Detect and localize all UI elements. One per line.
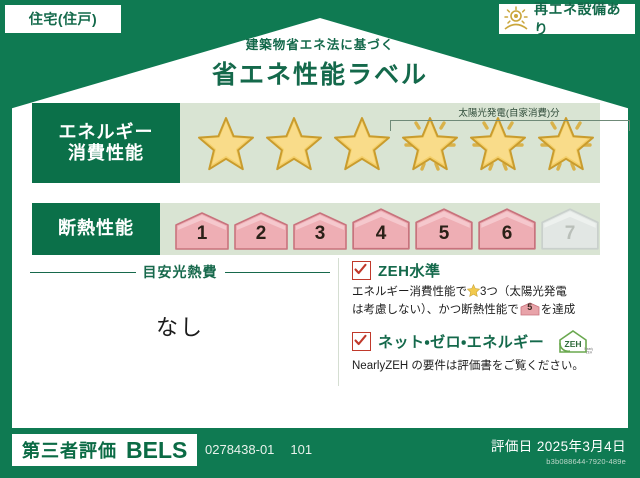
insulation-level-value: 5 <box>439 223 450 251</box>
insulation-level-inline-badge: 5 <box>520 302 540 316</box>
housing-type-tag: 住宅(住戸) <box>4 4 122 34</box>
insulation-level-badge-5: 5 <box>414 207 474 251</box>
energy-performance-row: エネルギー 消費性能 太陽光発電(自家消費)分 <box>32 103 600 183</box>
insulation-level-value: 2 <box>256 223 267 251</box>
evaluation-date-label: 評価日 <box>491 439 533 454</box>
page-title: 省エネ性能ラベル <box>0 55 640 91</box>
star-icon-solar <box>398 111 462 175</box>
zeh-standard-title-row: ZEH水準 <box>352 260 614 281</box>
energy-label-line2: 消費性能 <box>68 143 144 164</box>
zeh-desc-part2: 3つ（太陽光発電 <box>480 286 567 298</box>
zeh-desc-part1: エネルギー消費性能で <box>352 286 467 298</box>
utility-cost-block: 目安光熱費 なし <box>30 262 330 342</box>
insulation-level-badge-2: 2 <box>233 211 289 251</box>
utility-cost-value: なし <box>30 310 330 342</box>
bels-id-main: 0278438-01 <box>205 442 274 457</box>
zeh-netzero-title: ネット・ゼロ・エネルギー <box>378 331 544 352</box>
bels-id-group: 0278438-01 101 <box>205 442 312 457</box>
star-icon <box>467 284 480 297</box>
checkbox-checked-icon <box>352 332 371 351</box>
evaluation-date-group: 評価日 2025年3月4日 b3b088644-7920-489e <box>491 435 626 466</box>
svg-text:ZEH: ZEH <box>565 339 582 349</box>
energy-performance-label: 建築物省エネ法に基づく 省エネ性能ラベル 住宅(住戸) <box>0 0 640 478</box>
zeh-desc-part3: は考慮しない）、かつ断熱性能で <box>352 304 519 316</box>
utility-cost-heading-text: 目安光熱費 <box>143 262 218 282</box>
svg-text:ZEH: ZEH <box>586 350 593 354</box>
zeh-item-net-zero: ネット・ゼロ・エネルギー ZEH Nearly ZEH NearlyZEH の要… <box>352 329 614 376</box>
third-party-label: 第三者評価 <box>22 437 117 463</box>
insulation-level-value: 7 <box>565 223 576 251</box>
insulation-label-text: 断熱性能 <box>58 218 134 239</box>
star-icon <box>330 111 394 175</box>
energy-performance-label: エネルギー 消費性能 <box>32 103 180 183</box>
zeh-desc-part4: を達成 <box>541 304 576 316</box>
insulation-level-value: 6 <box>502 223 513 251</box>
zeh-item-standard: ZEH水準 エネルギー消費性能で3つ（太陽光発電 は考慮しない）、かつ断熱性能で… <box>352 260 614 320</box>
heading-rule-right <box>225 272 331 273</box>
label-footer: 第三者評価 BELS 0278438-01 101 評価日 2025年3月4日 … <box>0 428 640 478</box>
renewable-energy-tag: 再エネ設備あり <box>498 3 636 35</box>
zeh-netzero-title-row: ネット・ゼロ・エネルギー ZEH Nearly ZEH <box>352 329 614 355</box>
section-divider <box>338 258 339 386</box>
heading-rule-left <box>30 272 136 273</box>
renewable-energy-label: 再エネ設備あり <box>534 0 635 39</box>
star-icon-solar <box>534 111 598 175</box>
star-rating <box>180 111 598 175</box>
insulation-level-badge-4: 4 <box>351 207 411 251</box>
star-icon <box>262 111 326 175</box>
energy-performance-value: 太陽光発電(自家消費)分 <box>180 103 600 183</box>
zeh-block: ZEH水準 エネルギー消費性能で3つ（太陽光発電 は考慮しない）、かつ断熱性能で… <box>352 260 614 384</box>
insulation-level-badge-7: 7 <box>540 207 600 251</box>
insulation-level-value: 1 <box>197 223 208 251</box>
zeh-house-logo-icon: ZEH Nearly ZEH <box>553 329 593 355</box>
housing-type-label: 住宅(住戸) <box>29 9 97 29</box>
bels-id-sub: 101 <box>290 442 312 457</box>
insulation-performance-row: 断熱性能 1234567 <box>32 203 600 255</box>
zeh-standard-title: ZEH水準 <box>378 260 441 281</box>
star-icon-solar <box>466 111 530 175</box>
inline-badge-value: 5 <box>520 302 540 316</box>
insulation-performance-value: 1234567 <box>160 203 600 255</box>
insulation-level-value: 4 <box>376 223 387 251</box>
zeh-netzero-description: NearlyZEH の要件は評価書をご覧ください。 <box>352 358 614 376</box>
insulation-level-badge-6: 6 <box>477 207 537 251</box>
sun-icon <box>501 6 531 32</box>
checkbox-checked-icon <box>352 261 371 280</box>
star-icon <box>194 111 258 175</box>
insulation-performance-label: 断熱性能 <box>32 203 160 255</box>
evaluation-date-line: 評価日 2025年3月4日 <box>491 435 626 455</box>
bels-certification-box: 第三者評価 BELS <box>12 434 197 466</box>
insulation-level-scale: 1234567 <box>160 207 600 251</box>
zeh-standard-description: エネルギー消費性能で3つ（太陽光発電 は考慮しない）、かつ断熱性能で5を達成 <box>352 284 614 320</box>
evaluation-date-value: 2025年3月4日 <box>537 439 626 454</box>
utility-cost-heading: 目安光熱費 <box>30 262 330 282</box>
insulation-level-badge-1: 1 <box>174 211 230 251</box>
reference-code: b3b088644-7920-489e <box>491 457 626 466</box>
bels-wordmark: BELS <box>126 437 187 464</box>
label-title-group: 建築物省エネ法に基づく 省エネ性能ラベル <box>0 34 640 91</box>
insulation-level-value: 3 <box>315 223 326 251</box>
energy-label-line1: エネルギー <box>59 122 154 143</box>
insulation-level-badge-3: 3 <box>292 211 348 251</box>
